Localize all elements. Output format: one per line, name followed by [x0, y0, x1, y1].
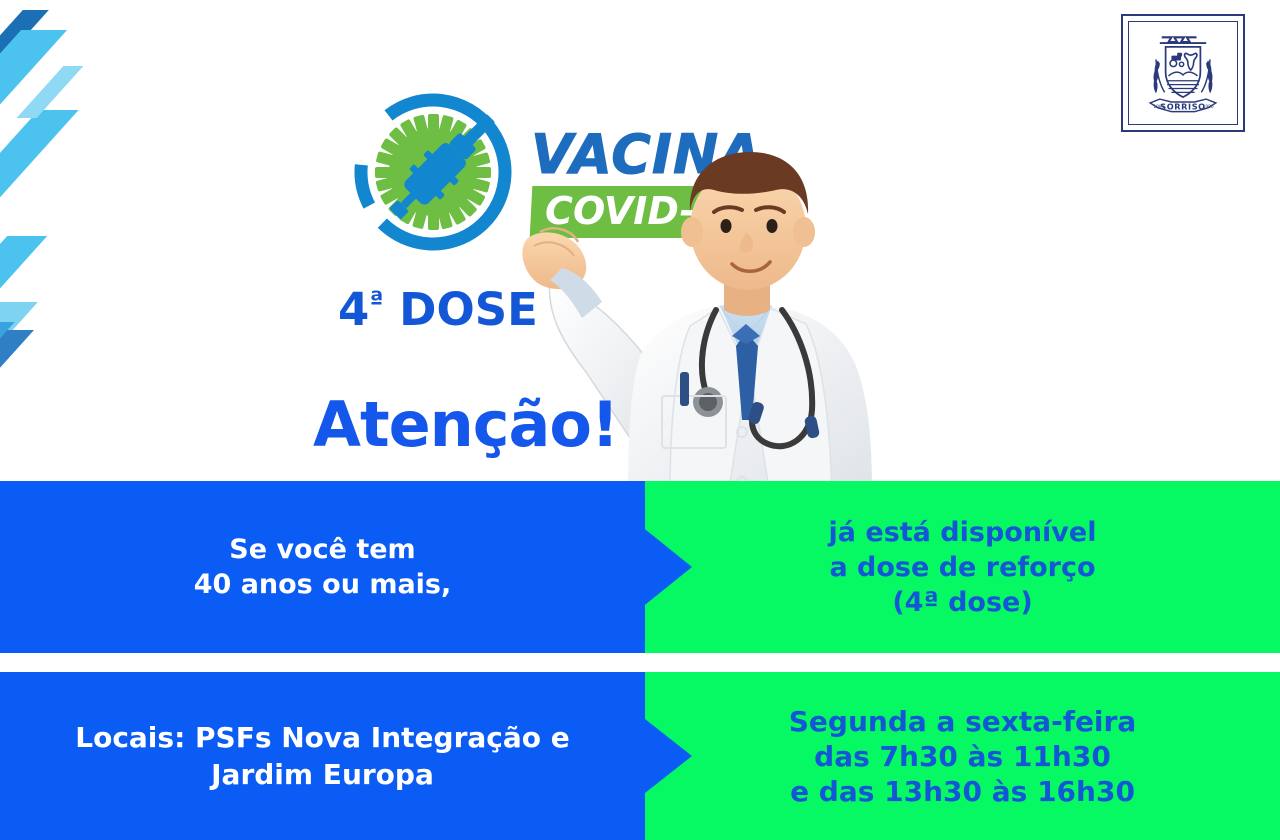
band-1-right-text: já está disponível a dose de reforço (4ª… — [645, 481, 1280, 653]
info-band-eligibility: Se você tem 40 anos ou mais, já está dis… — [0, 481, 1280, 653]
deco-shape-right-d — [0, 322, 15, 368]
band-2-right-line-3: e das 13h30 às 16h30 — [790, 774, 1135, 809]
crest-date-right: 1986 — [1203, 104, 1214, 110]
vaccine-logo — [345, 84, 525, 260]
wheat-right-icon — [1201, 59, 1212, 93]
wheat-left-icon — [1154, 59, 1165, 93]
band-1-left-line-2: 40 anos ou mais, — [194, 567, 452, 602]
deco-shape-dark-blue — [0, 10, 49, 74]
band-1-right-line-2: a dose de reforço — [829, 550, 1095, 585]
crest-date-left: 1981 — [1153, 104, 1164, 110]
dose-ordinal: ª — [369, 286, 383, 315]
band-2-right-text: Segunda a sexta-feira das 7h30 às 11h30 … — [645, 672, 1280, 840]
band-2-right-line-2: das 7h30 às 11h30 — [814, 739, 1111, 774]
band-2-left-line-2: Jardim Europa — [211, 756, 434, 793]
band-1-right-line-1: já está disponível — [829, 515, 1097, 550]
crest-icon: SORRISO 1981 1986 — [1123, 16, 1243, 130]
band-2-right-line-1: Segunda a sexta-feira — [789, 704, 1136, 739]
dose-label: DOSE — [383, 283, 537, 336]
poster-canvas: SORRISO 1981 1986 — [0, 0, 1280, 840]
dose-number: 4 — [338, 283, 369, 336]
band-2-left-text: Locais: PSFs Nova Integração e Jardim Eu… — [0, 672, 645, 840]
deco-shape-right-a — [0, 236, 47, 332]
info-band-locations-hours: Locais: PSFs Nova Integração e Jardim Eu… — [0, 672, 1280, 840]
deco-shape-right-b — [0, 302, 38, 364]
band-1-left-line-1: Se você tem — [229, 532, 415, 567]
band-1-right-line-3: (4ª dose) — [892, 585, 1032, 620]
deco-shape-light-blue-a — [0, 30, 67, 108]
deco-shape-pale-blue — [17, 66, 84, 118]
band-2-left-line-1: Locais: PSFs Nova Integração e — [75, 719, 570, 756]
sorriso-crest-logo: SORRISO 1981 1986 — [1121, 14, 1245, 132]
vaccine-icon — [345, 84, 525, 260]
crest-banner-text: SORRISO — [1160, 102, 1206, 112]
band-1-left-text: Se você tem 40 anos ou mais, — [0, 481, 645, 653]
deco-shape-right-c — [0, 330, 34, 370]
deco-shape-light-blue-b — [0, 110, 79, 218]
crest-banner: SORRISO 1981 1986 — [1150, 99, 1216, 112]
attention-heading: Atenção! — [313, 388, 833, 461]
